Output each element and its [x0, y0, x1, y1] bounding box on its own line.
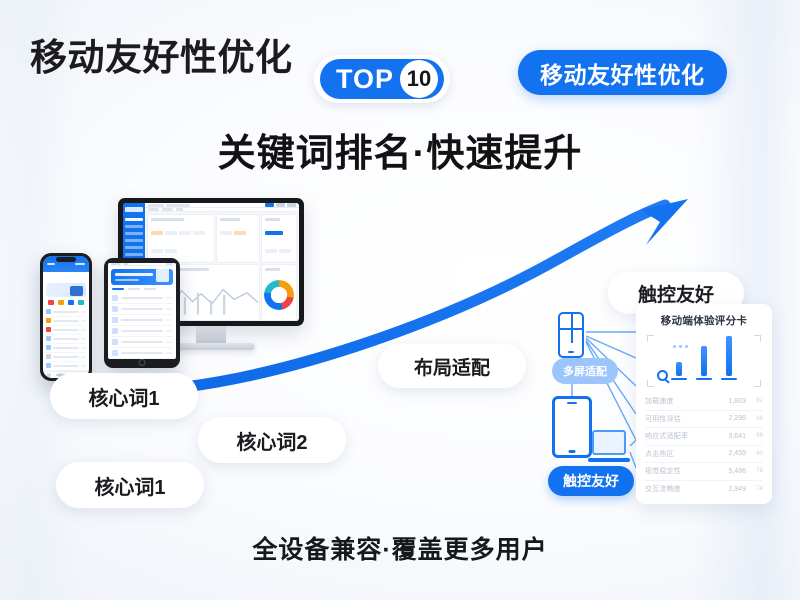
- dashboard-cards: [145, 212, 299, 321]
- score-card: 移动端体验评分卡 加载速度 1,803 92: [636, 304, 772, 504]
- magnifier-icon: [657, 370, 668, 381]
- dashboard-card: [217, 215, 259, 262]
- list-item: [46, 317, 86, 326]
- row-extra: 80: [746, 451, 763, 457]
- row-extra: 74: [746, 486, 763, 492]
- dashboard-card: [148, 265, 259, 320]
- diagram-pill-multi-screen: 多屏适配: [552, 358, 618, 384]
- dashboard-body: [145, 203, 299, 321]
- footer-tagline: 全设备兼容·覆盖更多用户: [0, 530, 800, 566]
- dashboard-card: [148, 215, 214, 262]
- dashboard-topbar: [145, 203, 299, 208]
- phone-banner: [46, 283, 86, 297]
- poster-canvas: 移动友好性优化 TOP 10 移动友好性优化 关键词排名·快速提升: [0, 0, 800, 600]
- list-item: [112, 315, 172, 326]
- dashboard-card: [262, 215, 296, 262]
- row-value: 1,803: [720, 398, 746, 405]
- monitor-stand-base: [167, 343, 255, 350]
- top-rank-badge-number: 10: [400, 60, 438, 98]
- list-item: [46, 308, 86, 317]
- table-row: 可用性评估 2,296 88: [645, 411, 763, 429]
- row-value: 3,641: [720, 433, 746, 440]
- phone-list: [43, 308, 89, 371]
- phone-header: [43, 256, 89, 272]
- dashboard-donut-card: [262, 265, 296, 320]
- list-item: [46, 353, 86, 362]
- list-item: [112, 337, 172, 348]
- list-item: [112, 304, 172, 315]
- row-name: 加载速度: [645, 396, 720, 406]
- mobile-experience-diagram: 多屏适配 触控友好 移动端体验评分卡: [540, 300, 778, 512]
- keyword-pill-2: 核心词2: [198, 417, 346, 463]
- phone-notch: [56, 257, 76, 262]
- list-item: [46, 344, 86, 353]
- score-card-chart: [647, 335, 761, 387]
- page-subtitle: 关键词排名·快速提升: [0, 122, 800, 177]
- background-band-left: [0, 0, 80, 600]
- row-value: 5,486: [720, 468, 746, 475]
- dashboard-tabs: [145, 208, 299, 212]
- list-item: [46, 326, 86, 335]
- diagram-pill-touch: 触控友好: [548, 466, 634, 496]
- laptop-outline-icon: [588, 430, 630, 462]
- chart-bars: [671, 336, 737, 380]
- score-card-table: 加载速度 1,803 92 可用性评估 2,296 88 响应式适配率 3,64…: [645, 393, 763, 498]
- table-row: 响应式适配率 3,641 86: [645, 428, 763, 446]
- row-name: 响应式适配率: [645, 431, 720, 441]
- row-extra: 92: [746, 398, 763, 404]
- top-rank-badge: TOP 10: [314, 55, 450, 103]
- dashboard-sidebar: [123, 203, 145, 321]
- phone-icon-grid: [43, 300, 89, 308]
- row-value: 2,349: [720, 486, 746, 493]
- tablet-banner: [111, 269, 173, 285]
- row-name: 可用性评估: [645, 414, 720, 424]
- phone-mockup: [40, 253, 92, 381]
- phone-search-bar: [47, 274, 85, 279]
- table-row: 点击热区 2,459 80: [645, 446, 763, 464]
- row-value: 2,296: [720, 415, 746, 422]
- row-name: 视觉稳定性: [645, 466, 720, 476]
- list-item: [112, 326, 172, 337]
- donut-chart: [264, 280, 294, 310]
- table-row: 视觉稳定性 5,486 78: [645, 463, 763, 481]
- feature-pill-layout: 布局适配: [378, 344, 526, 388]
- tablet-tabs: [108, 288, 176, 294]
- list-item: [46, 362, 86, 371]
- tablet-list: [108, 293, 176, 359]
- list-item: [46, 335, 86, 344]
- tablet-screen: [108, 263, 176, 359]
- list-item: [112, 293, 172, 304]
- page-title: 移动友好性优化: [30, 27, 293, 81]
- keyword-pill-3: 核心词1: [56, 462, 204, 508]
- row-name: 点击热区: [645, 449, 720, 459]
- phone-outline-icon: [552, 396, 592, 458]
- table-row: 交互流畅度 2,349 74: [645, 481, 763, 499]
- top-rank-badge-word: TOP: [336, 66, 394, 93]
- score-card-title: 移动端体验评分卡: [645, 313, 763, 328]
- monitor-screen: [118, 198, 304, 326]
- keyword-pill-1: 核心词1: [50, 373, 198, 419]
- tablet-topbar: [108, 263, 176, 266]
- header-tag-pill: 移动友好性优化: [518, 50, 727, 95]
- phone-split-icon: [558, 312, 584, 358]
- row-value: 2,459: [720, 450, 746, 457]
- tablet-mockup: [104, 258, 180, 368]
- top-rank-badge-inner: TOP 10: [320, 59, 444, 99]
- tablet-home-button: [139, 359, 146, 366]
- row-name: 交互流畅度: [645, 484, 720, 494]
- list-item: [112, 348, 172, 359]
- monitor-stand-neck: [196, 326, 226, 343]
- row-extra: 78: [746, 468, 763, 474]
- row-extra: 88: [746, 416, 763, 422]
- desktop-monitor-mockup: [118, 198, 304, 350]
- phone-screen: [43, 256, 89, 378]
- row-extra: 86: [746, 433, 763, 439]
- table-row: 加载速度 1,803 92: [645, 393, 763, 411]
- monitor-dashboard-ui: [123, 203, 299, 321]
